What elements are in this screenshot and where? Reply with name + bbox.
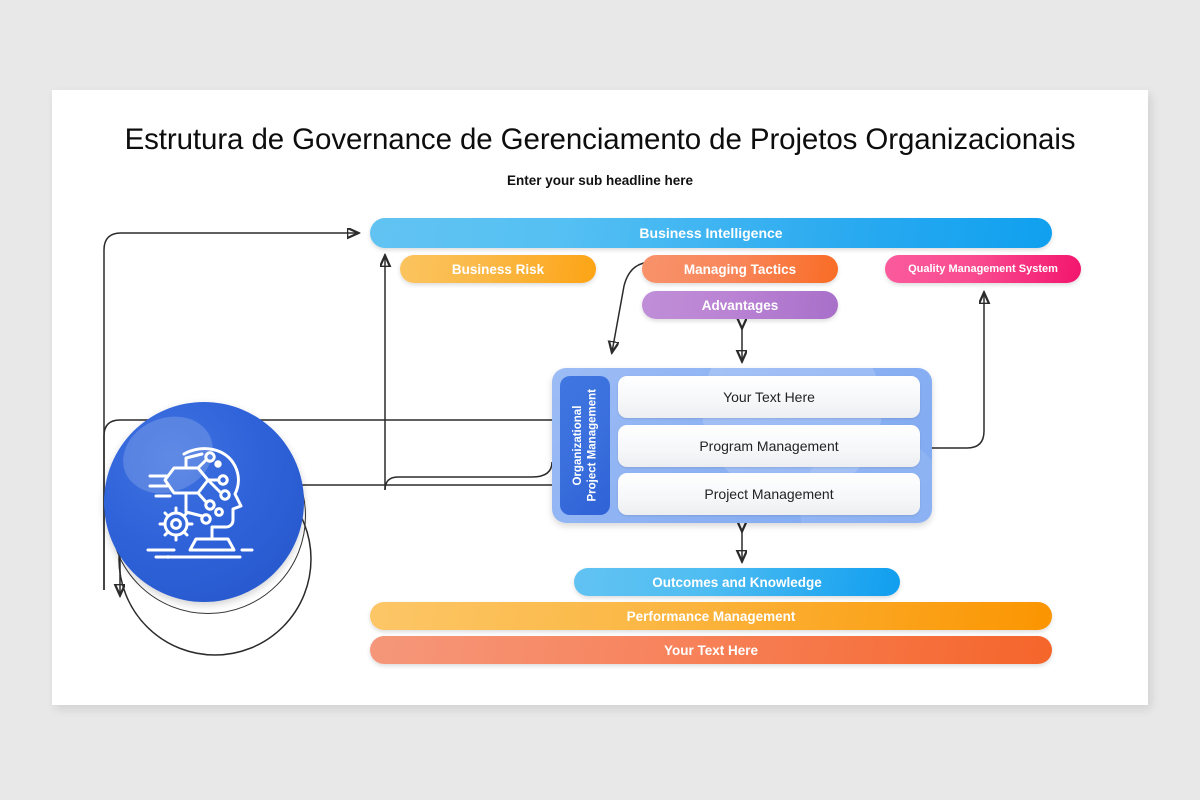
bar-business-intelligence[interactable]: Business Intelligence (370, 218, 1052, 248)
opm-side-tab[interactable]: Organizational Project Management (560, 376, 610, 515)
bar-outcomes-and-knowledge[interactable]: Outcomes and Knowledge (574, 568, 900, 596)
bar-managing-tactics[interactable]: Managing Tactics (642, 255, 838, 283)
opm-row-your-text-here[interactable]: Your Text Here (618, 376, 920, 418)
bar-quality-management-system[interactable]: Quality Management System (885, 255, 1081, 283)
opm-row-list: Your Text Here Program Management Projec… (618, 376, 920, 515)
bar-advantages[interactable]: Advantages (642, 291, 838, 319)
slide-canvas: Estrutura de Governance de Gerenciamento… (52, 90, 1148, 705)
bar-your-text-here-bottom[interactable]: Your Text Here (370, 636, 1052, 664)
ai-head-circuit-gear-icon (102, 400, 322, 615)
organizational-project-management-block: Organizational Project Management Your T… (552, 368, 932, 523)
screenshot-stage: Estrutura de Governance de Gerenciamento… (0, 0, 1200, 800)
wire-center-to-quality-management-system (932, 293, 984, 448)
opm-row-program-management[interactable]: Program Management (618, 425, 920, 467)
opm-side-label: Organizational Project Management (571, 389, 600, 501)
icon-glyph (140, 440, 268, 562)
opm-row-project-management[interactable]: Project Management (618, 473, 920, 515)
wire-center-to-riser (385, 462, 552, 490)
bar-business-risk[interactable]: Business Risk (400, 255, 596, 283)
bar-performance-management[interactable]: Performance Management (370, 602, 1052, 630)
icon-blue-circle (104, 402, 304, 602)
